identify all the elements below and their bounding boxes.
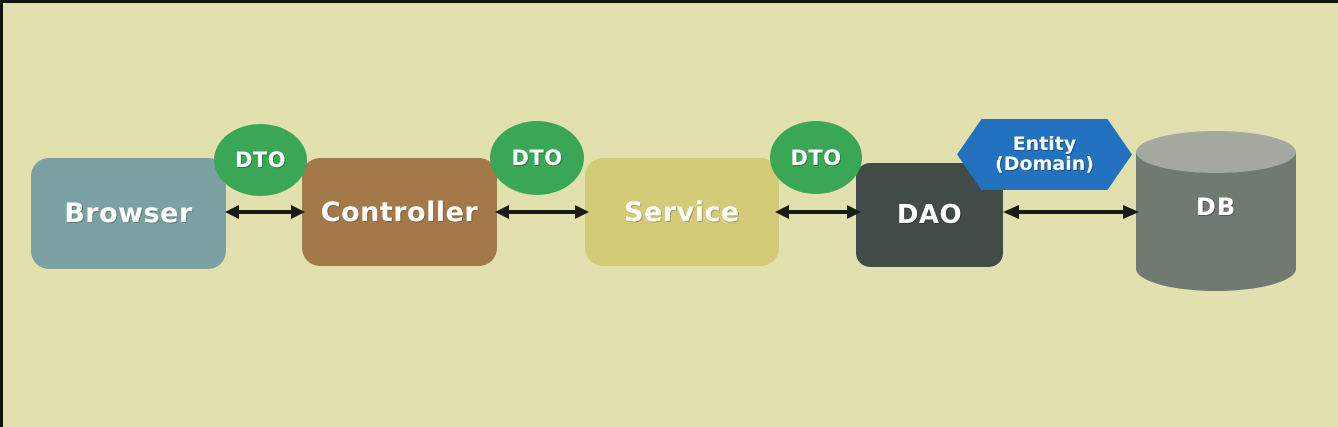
node-controller-label: Controller xyxy=(321,197,479,228)
double-arrow-icon xyxy=(1003,200,1139,224)
node-db-label: DB xyxy=(1136,193,1296,221)
node-dao-label: DAO xyxy=(897,200,962,230)
dto-badge-browser-controller[interactable]: DTO xyxy=(214,124,307,196)
entity-label-line1: Entity xyxy=(1013,135,1077,155)
arrow-dao-db xyxy=(1003,200,1139,224)
dto-label: DTO xyxy=(235,148,286,172)
dto-badge-service-dao[interactable]: DTO xyxy=(770,121,862,194)
arrow-service-dao xyxy=(775,200,861,224)
node-browser-label: Browser xyxy=(64,198,193,229)
node-db[interactable]: DB xyxy=(1136,131,1296,291)
dto-label: DTO xyxy=(511,146,562,170)
node-service-label: Service xyxy=(624,197,740,228)
entity-label-line2: (Domain) xyxy=(995,155,1094,175)
node-service[interactable]: Service xyxy=(585,158,779,266)
arrow-controller-service xyxy=(495,200,589,224)
double-arrow-icon xyxy=(495,200,589,224)
dto-badge-controller-service[interactable]: DTO xyxy=(490,121,584,195)
node-controller[interactable]: Controller xyxy=(302,158,497,266)
double-arrow-icon xyxy=(775,200,861,224)
dto-label: DTO xyxy=(790,146,841,170)
db-cylinder-top xyxy=(1136,131,1296,173)
double-arrow-icon xyxy=(225,200,305,224)
node-browser[interactable]: Browser xyxy=(31,158,226,269)
entity-domain-badge[interactable]: Entity (Domain) xyxy=(957,119,1132,190)
arrow-browser-controller xyxy=(225,200,305,224)
diagram-canvas: Browser DTO Controller DTO Service xyxy=(0,0,1338,427)
